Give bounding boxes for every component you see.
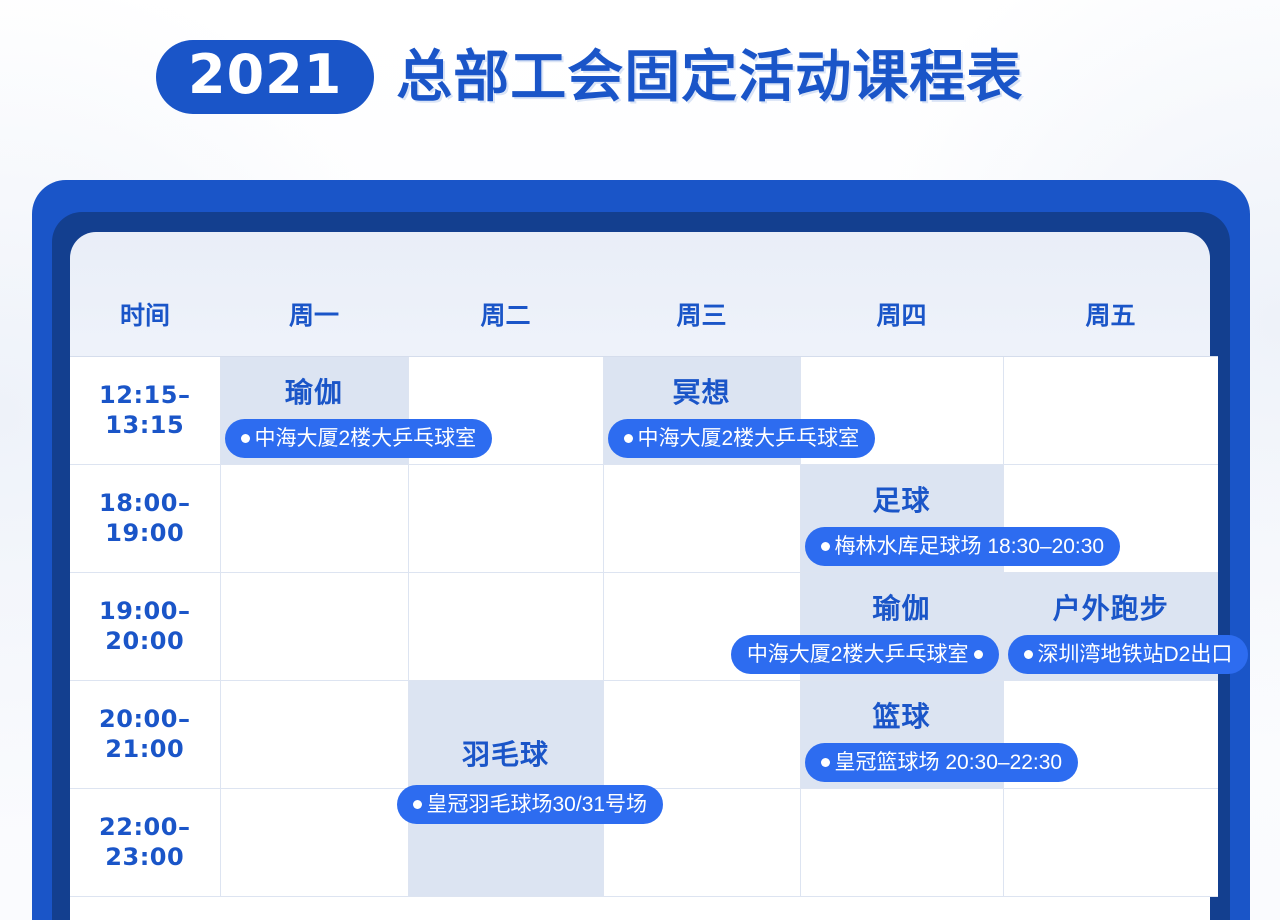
schedule-cell-tue-2000[interactable]: 羽毛球 皇冠羽毛球场30/31号场 xyxy=(408,680,603,896)
column-header-thursday: 周四 xyxy=(800,272,1003,356)
schedule-cell-thu-1900[interactable]: 瑜伽 中海大厦2楼大乒乓球室 xyxy=(800,572,1003,680)
table-header-row: 时间 周一 周二 周三 周四 周五 xyxy=(70,272,1218,356)
time-slot-cell: 12:15– 13:15 xyxy=(70,356,220,464)
schedule-table: 时间 周一 周二 周三 周四 周五 12:15– 13:15 瑜伽 中海大厦2楼… xyxy=(70,272,1218,897)
location-pill[interactable]: 深圳湾地铁站D2出口 xyxy=(1008,635,1249,674)
time-slot-end: 23:00 xyxy=(70,842,220,872)
time-slot-start: 22:00– xyxy=(70,812,220,842)
column-header-monday: 周一 xyxy=(220,272,408,356)
bullet-icon xyxy=(1024,650,1033,659)
schedule-cell-tue-1800[interactable] xyxy=(408,464,603,572)
location-label: 中海大厦2楼大乒乓球室 xyxy=(638,428,860,449)
time-slot-cell: 18:00– 19:00 xyxy=(70,464,220,572)
time-slot-cell: 22:00– 23:00 xyxy=(70,788,220,896)
schedule-cell-wed-2000[interactable] xyxy=(603,680,800,788)
schedule-cell-tue-1900[interactable] xyxy=(408,572,603,680)
time-slot-end: 13:15 xyxy=(70,410,220,440)
bullet-icon xyxy=(624,434,633,443)
location-pill[interactable]: 中海大厦2楼大乒乓球室 xyxy=(608,419,876,458)
table-row: 12:15– 13:15 瑜伽 中海大厦2楼大乒乓球室 冥想 xyxy=(70,356,1218,464)
bullet-icon xyxy=(413,800,422,809)
page-header: 2021 总部工会固定活动课程表 xyxy=(156,40,1023,114)
activity-name: 足球 xyxy=(801,479,1003,519)
table-row: 20:00– 21:00 羽毛球 皇冠羽毛球场30/31号场 篮球 xyxy=(70,680,1218,788)
location-label: 皇冠篮球场 20:30–22:30 xyxy=(835,752,1063,773)
activity-name: 羽毛球 xyxy=(409,733,603,773)
schedule-cell-mon-2200[interactable] xyxy=(220,788,408,896)
activity-name: 瑜伽 xyxy=(801,587,1003,627)
time-slot-end: 20:00 xyxy=(70,626,220,656)
location-label: 梅林水库足球场 18:30–20:30 xyxy=(835,536,1105,557)
location-pill[interactable]: 皇冠羽毛球场30/31号场 xyxy=(397,785,664,824)
schedule-cell-fri-1900[interactable]: 户外跑步 深圳湾地铁站D2出口 xyxy=(1003,572,1218,680)
schedule-cell-mon-2000[interactable] xyxy=(220,680,408,788)
location-pill[interactable]: 中海大厦2楼大乒乓球室 xyxy=(731,635,999,674)
schedule-cell-thu-1800[interactable]: 足球 梅林水库足球场 18:30–20:30 xyxy=(800,464,1003,572)
bullet-icon xyxy=(241,434,250,443)
location-pill[interactable]: 皇冠篮球场 20:30–22:30 xyxy=(805,743,1079,782)
location-label: 中海大厦2楼大乒乓球室 xyxy=(747,644,969,665)
time-slot-cell: 19:00– 20:00 xyxy=(70,572,220,680)
column-header-tuesday: 周二 xyxy=(408,272,603,356)
time-slot-start: 12:15– xyxy=(70,380,220,410)
schedule-cell-fri-2200[interactable] xyxy=(1003,788,1218,896)
activity-name: 冥想 xyxy=(604,371,800,411)
time-slot-start: 18:00– xyxy=(70,488,220,518)
activity-name: 篮球 xyxy=(801,695,1003,735)
location-pill[interactable]: 中海大厦2楼大乒乓球室 xyxy=(225,419,493,458)
location-label: 中海大厦2楼大乒乓球室 xyxy=(255,428,477,449)
location-pill[interactable]: 梅林水库足球场 18:30–20:30 xyxy=(805,527,1121,566)
schedule-cell-thu-2000[interactable]: 篮球 皇冠篮球场 20:30–22:30 xyxy=(800,680,1003,788)
time-slot-start: 20:00– xyxy=(70,704,220,734)
time-slot-end: 19:00 xyxy=(70,518,220,548)
schedule-cell-wed-1215[interactable]: 冥想 中海大厦2楼大乒乓球室 xyxy=(603,356,800,464)
schedule-cell-mon-1215[interactable]: 瑜伽 中海大厦2楼大乒乓球室 xyxy=(220,356,408,464)
schedule-cell-thu-2200[interactable] xyxy=(800,788,1003,896)
column-header-friday: 周五 xyxy=(1003,272,1218,356)
schedule-cell-fri-1215[interactable] xyxy=(1003,356,1218,464)
bullet-icon xyxy=(821,542,830,551)
bullet-icon xyxy=(821,758,830,767)
location-label: 皇冠羽毛球场30/31号场 xyxy=(427,794,648,815)
schedule-cell-mon-1900[interactable] xyxy=(220,572,408,680)
table-row: 19:00– 20:00 瑜伽 中海大厦2楼大乒乓球室 户外跑步 xyxy=(70,572,1218,680)
year-badge: 2021 xyxy=(156,40,374,114)
activity-name: 瑜伽 xyxy=(221,371,408,411)
page-title: 总部工会固定活动课程表 xyxy=(396,49,1023,105)
activity-name: 户外跑步 xyxy=(1004,587,1219,627)
time-slot-start: 19:00– xyxy=(70,596,220,626)
column-header-time: 时间 xyxy=(70,272,220,356)
bullet-icon xyxy=(974,650,983,659)
table-row: 18:00– 19:00 足球 梅林水库足球场 18:30–20:30 xyxy=(70,464,1218,572)
time-slot-end: 21:00 xyxy=(70,734,220,764)
column-header-wednesday: 周三 xyxy=(603,272,800,356)
location-label: 深圳湾地铁站D2出口 xyxy=(1038,644,1233,665)
schedule-cell-mon-1800[interactable] xyxy=(220,464,408,572)
schedule-cell-wed-1800[interactable] xyxy=(603,464,800,572)
time-slot-cell: 20:00– 21:00 xyxy=(70,680,220,788)
